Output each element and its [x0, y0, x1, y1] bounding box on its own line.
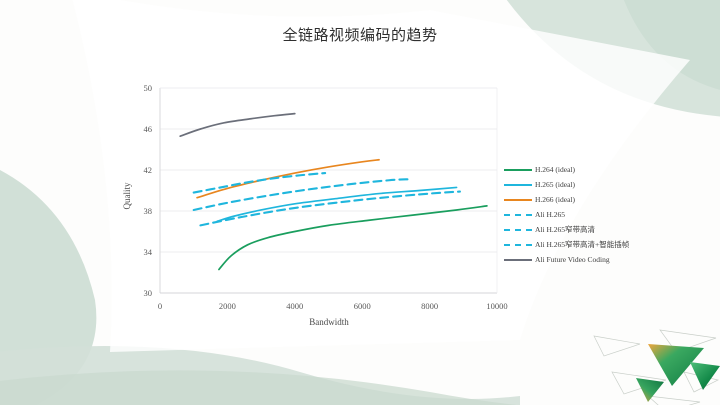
chart-legend: H.264 (ideal)H.265 (ideal)H.266 (ideal)A… — [504, 163, 654, 268]
y-axis-title: Quality — [122, 182, 132, 209]
legend-item-label: H.264 (ideal) — [532, 165, 575, 175]
x-tick-label: 6000 — [354, 301, 371, 311]
legend-item[interactable]: Ali H.265 — [504, 208, 654, 222]
y-tick-label: 50 — [144, 83, 153, 93]
legend-swatch-icon — [504, 163, 532, 177]
y-tick-label: 30 — [144, 288, 153, 298]
legend-swatch-icon — [504, 178, 532, 192]
legend-swatch-icon — [504, 208, 532, 222]
x-tick-label: 10000 — [486, 301, 507, 311]
legend-item[interactable]: H.266 (ideal) — [504, 193, 654, 207]
legend-swatch-icon — [504, 253, 532, 267]
legend-item-label: H.265 (ideal) — [532, 180, 575, 190]
legend-swatch-icon — [504, 238, 532, 252]
x-tick-label: 2000 — [219, 301, 236, 311]
x-tick-label: 8000 — [421, 301, 438, 311]
y-tick-label: 42 — [144, 165, 153, 175]
legend-item[interactable]: Ali H.265窄带高清+智能插帧 — [504, 238, 654, 252]
legend-item-label: Ali H.265 — [532, 210, 565, 220]
y-tick-label: 46 — [144, 124, 153, 134]
y-tick-label: 38 — [144, 206, 153, 216]
legend-swatch-icon — [504, 223, 532, 237]
legend-swatch-icon — [504, 193, 532, 207]
legend-item-label: Ali H.265窄带高清 — [532, 225, 595, 235]
x-axis-title: Bandwidth — [309, 317, 349, 327]
slide-canvas: 全链路视频编码的趋势 30343842465002000400060008000… — [0, 0, 720, 405]
legend-item[interactable]: H.264 (ideal) — [504, 163, 654, 177]
legend-item-label: H.266 (ideal) — [532, 195, 575, 205]
legend-item[interactable]: Ali Future Video Coding — [504, 253, 654, 267]
legend-item[interactable]: H.265 (ideal) — [504, 178, 654, 192]
y-tick-label: 34 — [144, 247, 153, 257]
legend-item-label: Ali Future Video Coding — [532, 255, 610, 265]
x-tick-label: 0 — [158, 301, 162, 311]
legend-item-label: Ali H.265窄带高清+智能插帧 — [532, 240, 629, 250]
plot-area-background — [160, 88, 497, 293]
legend-item[interactable]: Ali H.265窄带高清 — [504, 223, 654, 237]
x-tick-label: 4000 — [286, 301, 303, 311]
